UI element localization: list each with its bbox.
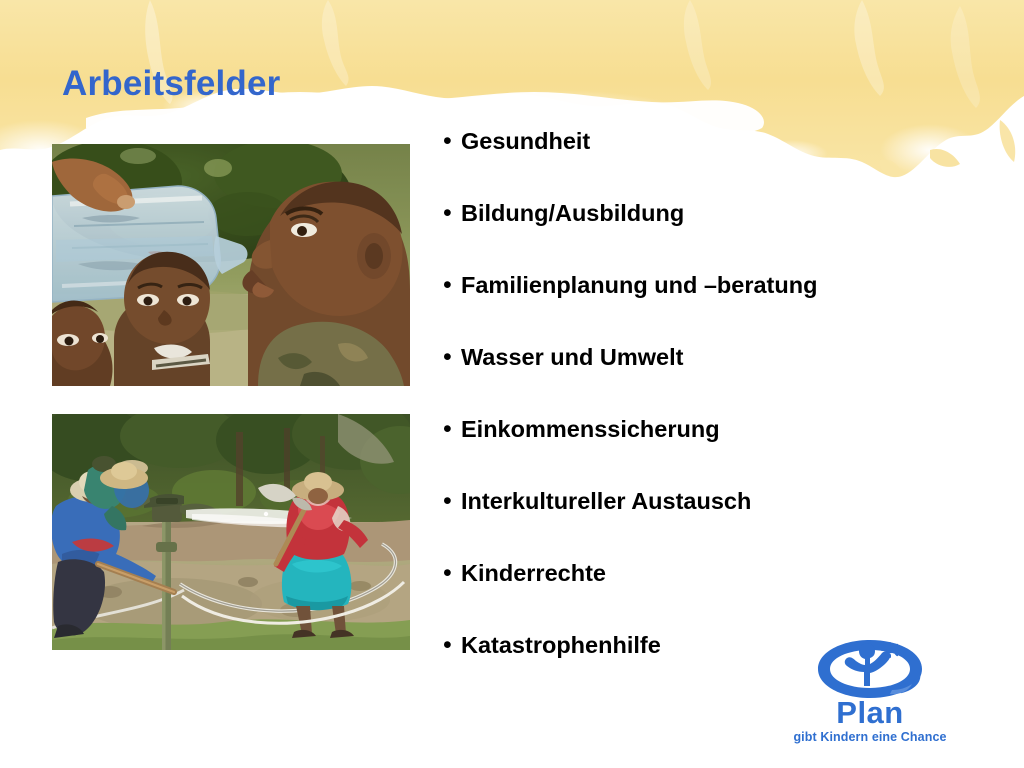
plan-tagline: gibt Kindern eine Chance (790, 730, 950, 744)
list-item-label: Einkommenssicherung (461, 414, 720, 444)
list-item-label: Wasser und Umwelt (461, 342, 683, 372)
list-item-label: Familienplanung und –beratung (461, 270, 817, 300)
bullet-icon: • (443, 558, 461, 588)
plan-logo: Plan gibt Kindern eine Chance (790, 638, 950, 753)
list-item: • Kinderrechte (443, 558, 1003, 630)
bullet-icon: • (443, 198, 461, 228)
boy-drinking-water-photo (52, 144, 410, 386)
list-item: • Gesundheit (443, 126, 1003, 198)
list-item: • Familienplanung und –beratung (443, 270, 1003, 342)
list-item-label: Gesundheit (461, 126, 590, 156)
bullet-icon: • (443, 486, 461, 516)
list-item: • Interkultureller Austausch (443, 486, 1003, 558)
bullet-icon: • (443, 126, 461, 156)
list-item: • Einkommenssicherung (443, 414, 1003, 486)
list-item-label: Interkultureller Austausch (461, 486, 751, 516)
bullet-icon: • (443, 414, 461, 444)
plan-wordmark: Plan (790, 696, 950, 730)
irrigation-sprinkler-photo (52, 414, 410, 650)
page-title: Arbeitsfelder (62, 64, 281, 104)
bullet-icon: • (443, 270, 461, 300)
arbeitsfelder-bullet-list: • Gesundheit • Bildung/Ausbildung • Fami… (443, 126, 1003, 702)
bullet-icon: • (443, 630, 461, 660)
list-item-label: Bildung/Ausbildung (461, 198, 684, 228)
list-item: • Wasser und Umwelt (443, 342, 1003, 414)
list-item-label: Kinderrechte (461, 558, 606, 588)
bullet-icon: • (443, 342, 461, 372)
list-item-label: Katastrophenhilfe (461, 630, 661, 660)
plan-child-ring-icon (812, 638, 928, 700)
list-item: • Bildung/Ausbildung (443, 198, 1003, 270)
